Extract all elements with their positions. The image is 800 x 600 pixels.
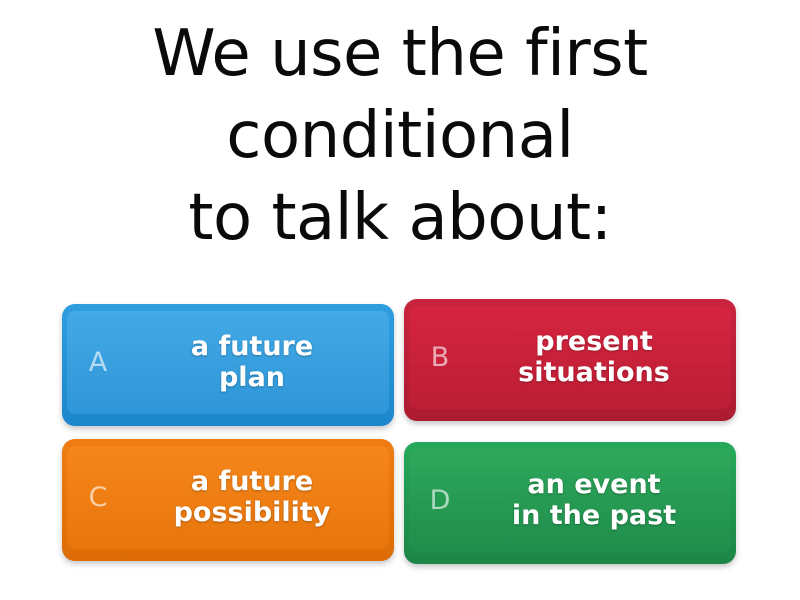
- answer-option-c-face: C a future possibility: [67, 446, 389, 549]
- question-area: We use the first conditional to talk abo…: [0, 0, 800, 290]
- answer-option-b-face: B present situations: [409, 306, 731, 409]
- answer-option-a-label: a future plan: [129, 332, 389, 392]
- answer-option-a-letter: A: [67, 349, 129, 376]
- quiz-stage: We use the first conditional to talk abo…: [0, 0, 800, 600]
- answer-option-c[interactable]: C a future possibility: [62, 439, 394, 561]
- answer-option-d[interactable]: D an event in the past: [404, 442, 736, 564]
- answer-option-c-label: a future possibility: [129, 467, 389, 527]
- answer-option-b-label: present situations: [471, 327, 731, 387]
- answer-option-d-face: D an event in the past: [409, 449, 731, 552]
- answer-options-grid: A a future plan B present situations C a…: [0, 290, 800, 600]
- answer-option-c-letter: C: [67, 484, 129, 511]
- answer-option-a[interactable]: A a future plan: [62, 304, 394, 426]
- answer-option-a-face: A a future plan: [67, 311, 389, 414]
- question-text: We use the first conditional to talk abo…: [152, 14, 647, 260]
- answer-option-d-label: an event in the past: [471, 470, 731, 530]
- answer-option-d-letter: D: [409, 487, 471, 514]
- answer-option-b-letter: B: [409, 344, 471, 371]
- answer-option-b[interactable]: B present situations: [404, 299, 736, 421]
